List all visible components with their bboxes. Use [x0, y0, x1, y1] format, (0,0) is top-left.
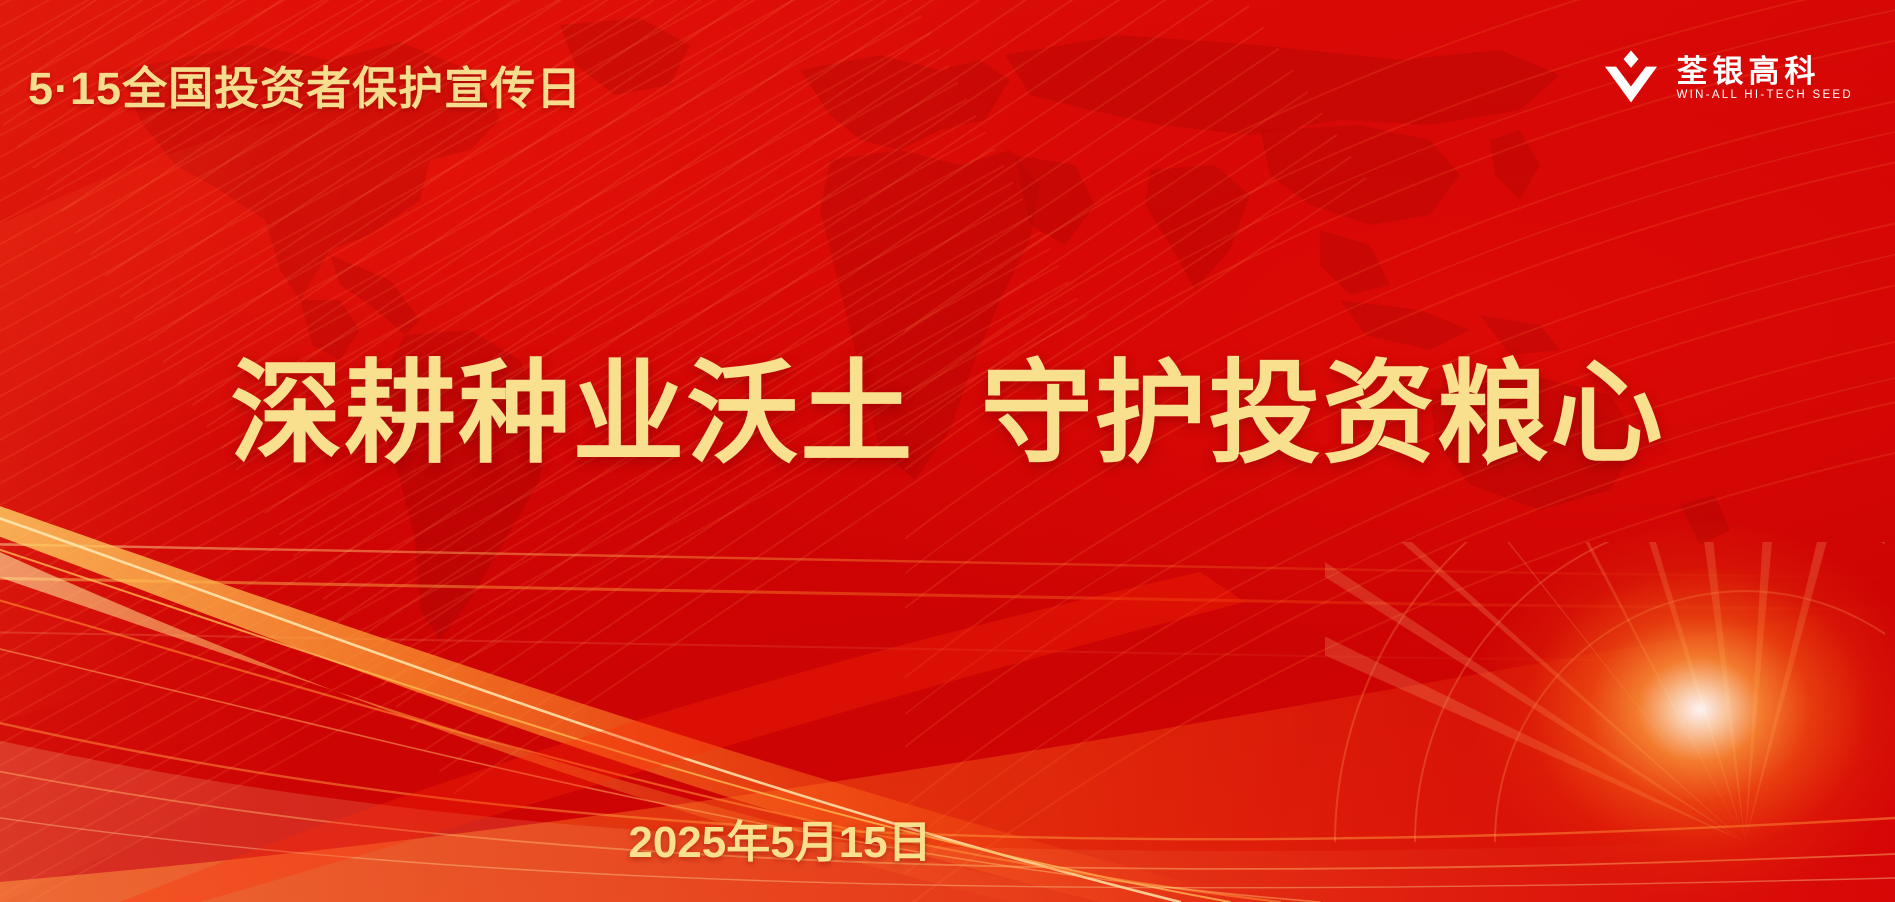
- poster-main-title: 深耕种业沃土 守护投资粮心: [0, 358, 1895, 470]
- company-logo: 荃银高科 WIN-ALL HI-TECH SEED: [1600, 48, 1853, 110]
- investor-protection-day-poster: 5·15全国投资者保护宣传日 荃银高科 WIN-ALL HI-TECH SEED…: [0, 0, 1895, 902]
- campaign-banner-text: 5·15全国投资者保护宣传日: [28, 52, 582, 117]
- main-title-text: 深耕种业沃土 守护投资粮心: [230, 358, 1664, 470]
- logo-wordmark: 荃银高科 WIN-ALL HI-TECH SEED: [1676, 56, 1853, 102]
- event-date: 2025年5月15日: [0, 806, 1560, 870]
- win-all-chevron-icon: [1600, 48, 1662, 110]
- logo-company-name-en: WIN-ALL HI-TECH SEED: [1676, 90, 1853, 102]
- logo-company-name-cn: 荃银高科: [1676, 56, 1853, 87]
